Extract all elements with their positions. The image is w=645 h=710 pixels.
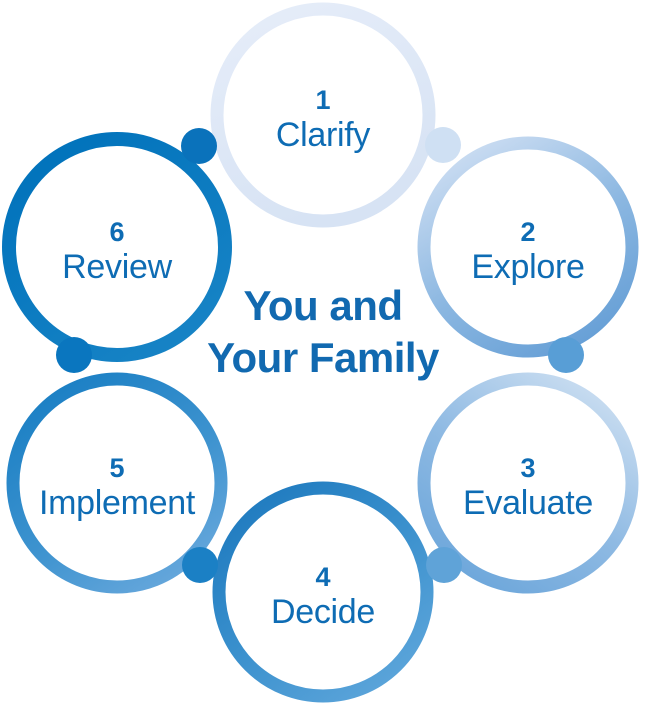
step-text-explore: 2 Explore (471, 217, 584, 286)
step-ring-explore[interactable] (424, 143, 632, 351)
step-number-explore: 2 (520, 217, 535, 247)
step-label-explore: Explore (471, 248, 584, 286)
step-text-decide: 4 Decide (271, 562, 375, 631)
step-number-clarify: 1 (315, 85, 330, 115)
step-label-clarify: Clarify (276, 116, 371, 154)
step-text-evaluate: 3 Evaluate (463, 453, 593, 522)
step-label-review: Review (62, 248, 172, 286)
connector-dot-evaluate-decide (426, 547, 462, 583)
cycle-diagram: 1 Clarify 2 Explore 3 Evaluate 4 Decide … (0, 0, 645, 710)
cycle-diagram-svg: 1 Clarify 2 Explore 3 Evaluate 4 Decide … (0, 0, 645, 710)
step-ring-review[interactable] (9, 139, 225, 355)
step-label-implement: Implement (39, 484, 196, 522)
connector-dot-clarify-explore (425, 127, 461, 163)
step-text-clarify: 1 Clarify (276, 85, 371, 154)
center-title-line1: You and (243, 282, 402, 329)
center-title: You and Your Family (207, 282, 440, 381)
step-text-review: 6 Review (62, 217, 172, 286)
connector-dot-decide-implement (182, 547, 218, 583)
step-ring-clarify[interactable] (217, 9, 429, 221)
step-number-implement: 5 (109, 453, 124, 483)
connector-dot-explore-evaluate (548, 337, 584, 373)
step-ring-decide[interactable] (219, 488, 427, 696)
step-label-evaluate: Evaluate (463, 484, 593, 522)
connector-dot-implement-review (56, 337, 92, 373)
step-text-implement: 5 Implement (39, 453, 196, 522)
step-number-decide: 4 (315, 562, 330, 592)
connector-dot-review-clarify (181, 128, 217, 164)
step-label-decide: Decide (271, 593, 375, 631)
center-title-line2: Your Family (207, 334, 440, 381)
step-number-evaluate: 3 (520, 453, 535, 483)
step-number-review: 6 (109, 217, 124, 247)
